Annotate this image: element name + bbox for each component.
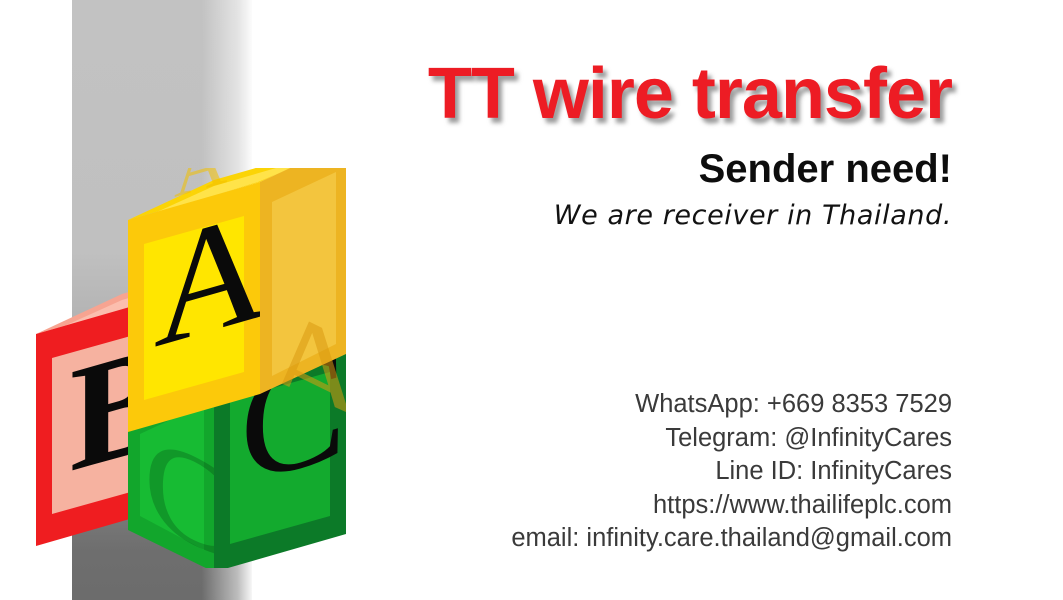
contact-line-whatsapp: WhatsApp: +669 8353 7529 [300,388,952,422]
poster-canvas: B C C [0,0,1063,600]
contact-line-telegram: Telegram: @InfinityCares [300,422,952,456]
subtitle: Sender need! [260,148,952,190]
page-title: TT wire transfer [260,58,952,130]
contact-line-email: email: infinity.care.thailand@gmail.com [300,522,952,556]
contact-block: WhatsApp: +669 8353 7529 Telegram: @Infi… [300,388,952,556]
contact-line-lineid: Line ID: InfinityCares [300,455,952,489]
tagline: We are receiver in Thailand. [260,200,952,232]
contact-line-website: https://www.thailifeplc.com [300,489,952,523]
